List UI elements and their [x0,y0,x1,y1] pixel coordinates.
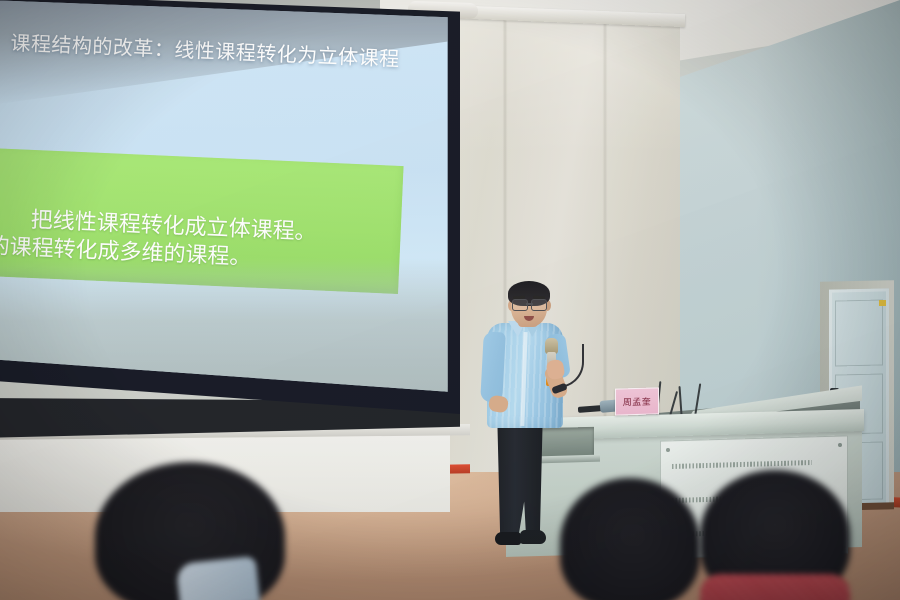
speaker-left-arm [480,331,506,402]
lecture-photo: 三、课程结构的改革：线性课程转化为立体课程 标： 把线性课程转化成立体课程。 单… [0,0,900,600]
speaker-legs [494,412,546,540]
eyeglasses-bridge [526,303,533,305]
speaker-shoe-right [520,530,546,544]
audience-front-right-shirt [700,574,850,600]
speaker-shoe-left [495,532,521,545]
audience-front-center [560,478,700,600]
door-sticker [879,300,886,306]
nameplate: 周孟奎 [615,387,659,415]
projection-screen: 三、课程结构的改革：线性课程转化为立体课程 标： 把线性课程转化成立体课程。 单… [0,0,450,404]
audience-front-left-collar [176,556,261,600]
door-panel-top [835,299,883,366]
nameplate-text: 周孟奎 [623,395,652,409]
